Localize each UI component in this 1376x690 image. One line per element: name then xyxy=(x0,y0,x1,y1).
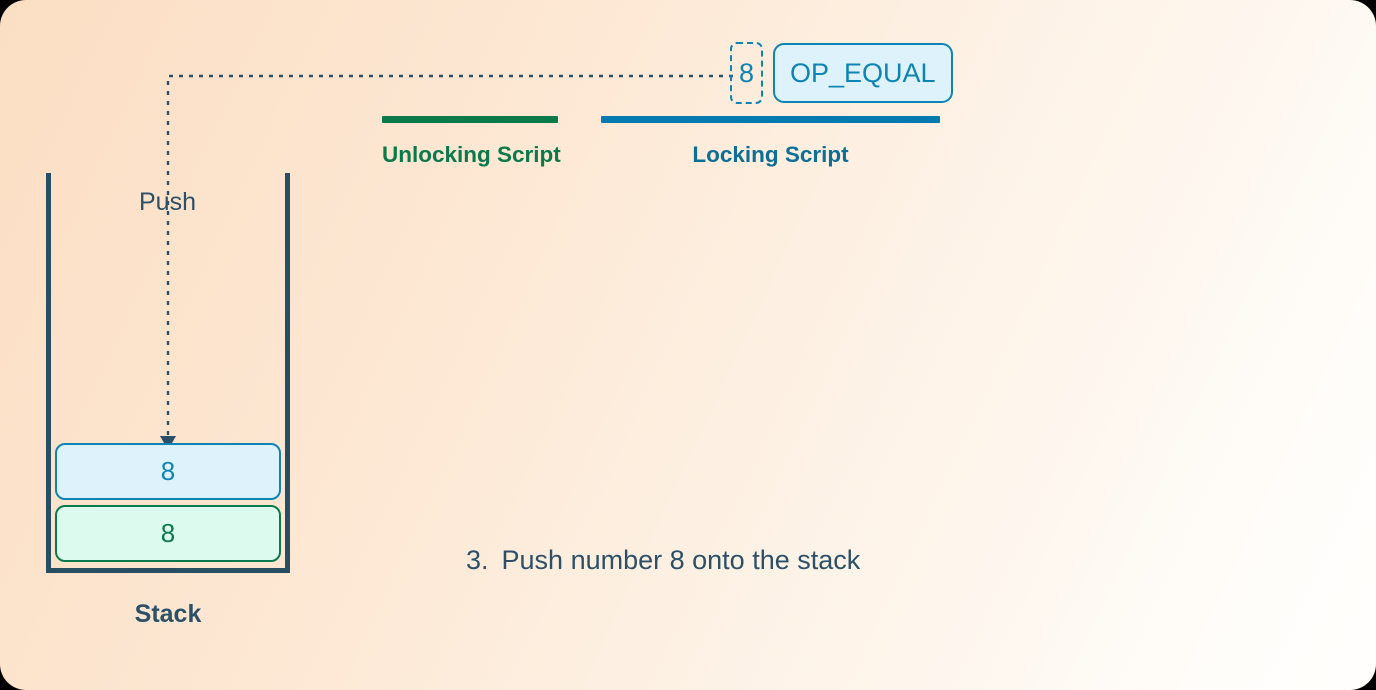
stack-item-list: 8 8 xyxy=(51,443,285,562)
step-caption: 3. Push number 8 onto the stack xyxy=(466,545,860,576)
step-caption-text: Push number 8 onto the stack xyxy=(502,545,861,576)
diagram-canvas: 8 OP_EQUAL Unlocking Script Locking Scri… xyxy=(0,0,1376,690)
opcode-token-op-equal[interactable]: OP_EQUAL xyxy=(773,43,953,103)
stack-value-token[interactable]: 8 xyxy=(730,42,763,104)
script-token-row: 8 OP_EQUAL xyxy=(730,42,953,104)
locking-script-bar xyxy=(601,116,940,123)
unlocking-script-label: Unlocking Script xyxy=(382,142,558,168)
stack-item[interactable]: 8 xyxy=(55,505,281,562)
stack-title: Stack xyxy=(46,600,290,629)
locking-script-label: Locking Script xyxy=(601,142,940,168)
stack-item[interactable]: 8 xyxy=(55,443,281,500)
step-number: 3. xyxy=(466,545,489,576)
unlocking-script-bar xyxy=(382,116,558,123)
stack-container: 8 8 xyxy=(46,173,290,573)
